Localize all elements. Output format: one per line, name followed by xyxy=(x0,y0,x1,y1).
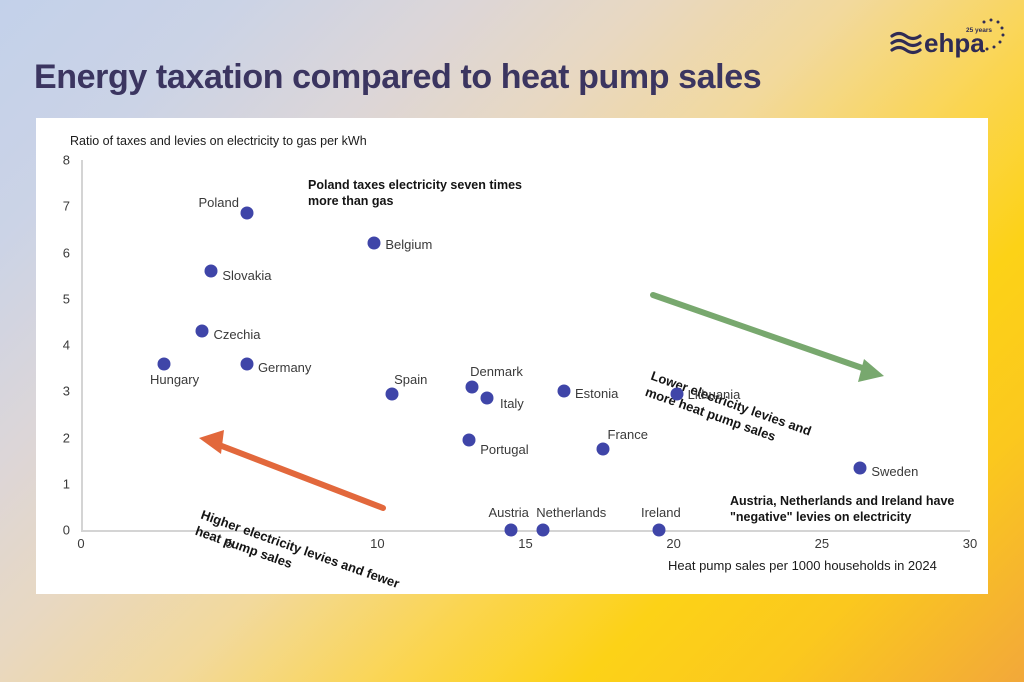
data-point[interactable] xyxy=(854,461,867,474)
data-point[interactable] xyxy=(205,265,218,278)
scatter-plot: Ratio of taxes and levies on electricity… xyxy=(36,118,988,594)
y-tick-label: 0 xyxy=(44,523,70,538)
green-arrow-note: Lower electricity levies and more heat p… xyxy=(643,368,814,456)
logo-anniversary-text: 25 years xyxy=(966,27,992,34)
data-point-label: Estonia xyxy=(575,386,618,401)
data-point[interactable] xyxy=(596,443,609,456)
data-point-label: Czechia xyxy=(213,327,260,342)
data-point-label: Lithuania xyxy=(688,387,741,402)
chart-panel: Ratio of taxes and levies on electricity… xyxy=(36,118,988,594)
data-point[interactable] xyxy=(196,325,209,338)
data-point[interactable] xyxy=(240,207,253,220)
data-point[interactable] xyxy=(240,357,253,370)
data-point-label: Portugal xyxy=(480,442,528,457)
data-point-label: Hungary xyxy=(150,372,199,387)
y-tick-label: 5 xyxy=(44,291,70,306)
data-point-label: Ireland xyxy=(641,505,681,520)
green-arrow-icon xyxy=(653,295,884,382)
data-point-label: Slovakia xyxy=(222,268,271,283)
data-point-label: France xyxy=(608,427,648,442)
x-tick-label: 20 xyxy=(666,536,680,551)
y-tick-label: 6 xyxy=(44,245,70,260)
data-point[interactable] xyxy=(558,385,571,398)
data-point[interactable] xyxy=(652,524,665,537)
data-point[interactable] xyxy=(463,433,476,446)
x-tick-label: 15 xyxy=(518,536,532,551)
poland-callout: Poland taxes electricity seven times mor… xyxy=(308,178,522,209)
data-point-label: Italy xyxy=(500,396,524,411)
data-point[interactable] xyxy=(480,392,493,405)
data-point-label: Denmark xyxy=(470,364,523,379)
y-tick-label: 7 xyxy=(44,199,70,214)
data-point-label: Sweden xyxy=(871,464,918,479)
eu-stars-icon xyxy=(983,19,1005,51)
data-point-label: Spain xyxy=(394,372,427,387)
orange-arrow-note: Higher electricity levies and fewer heat… xyxy=(193,507,402,609)
ehpa-logo-icon: ehpa 25 years xyxy=(888,16,1006,64)
data-point-label: Netherlands xyxy=(536,505,606,520)
ehpa-logo: ehpa 25 years xyxy=(888,16,1006,64)
y-tick-label: 1 xyxy=(44,476,70,491)
y-tick-label: 4 xyxy=(44,338,70,353)
x-tick-label: 25 xyxy=(815,536,829,551)
x-axis-title: Heat pump sales per 1000 households in 2… xyxy=(668,558,937,573)
data-point[interactable] xyxy=(368,237,381,250)
x-tick-label: 0 xyxy=(77,536,84,551)
y-axis-line xyxy=(81,160,83,531)
slide-header: Energy taxation compared to heat pump sa… xyxy=(0,0,1024,118)
y-axis-title: Ratio of taxes and levies on electricity… xyxy=(70,134,367,148)
x-tick-label: 10 xyxy=(370,536,384,551)
data-point[interactable] xyxy=(466,380,479,393)
data-point-label: Belgium xyxy=(385,237,432,252)
data-point-label: Poland xyxy=(198,195,238,210)
negative-levies-callout: Austria, Netherlands and Ireland have "n… xyxy=(730,494,954,525)
data-point-label: Austria xyxy=(488,505,528,520)
data-point[interactable] xyxy=(386,387,399,400)
page-title: Energy taxation compared to heat pump sa… xyxy=(34,58,761,97)
y-tick-label: 2 xyxy=(44,430,70,445)
data-point-label: Germany xyxy=(258,360,311,375)
data-point[interactable] xyxy=(670,387,683,400)
y-tick-label: 3 xyxy=(44,384,70,399)
data-point[interactable] xyxy=(504,524,517,537)
x-tick-label: 30 xyxy=(963,536,977,551)
y-tick-label: 8 xyxy=(44,153,70,168)
data-point[interactable] xyxy=(157,357,170,370)
data-point[interactable] xyxy=(537,524,550,537)
orange-arrow-icon xyxy=(199,430,383,508)
